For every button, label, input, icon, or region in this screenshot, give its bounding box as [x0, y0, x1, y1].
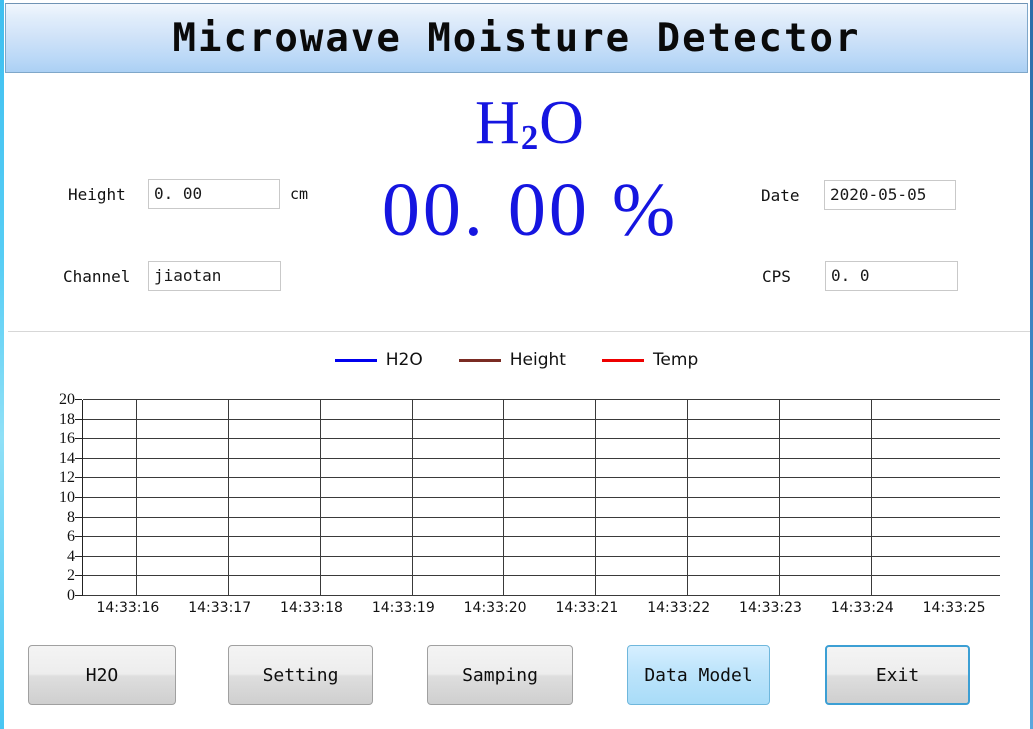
chart-y-tick-mark: [75, 399, 82, 400]
data-model-button[interactable]: Data Model: [627, 645, 770, 705]
button-bar: H2O Setting Samping Data Model Exit: [0, 645, 1033, 707]
height-unit-label: cm: [290, 185, 308, 203]
date-label: Date: [761, 186, 805, 205]
legend-label: Height: [510, 350, 566, 370]
date-input[interactable]: [824, 180, 956, 210]
chart-y-tick-mark: [75, 458, 82, 459]
chart-gridline-vertical: [503, 400, 504, 595]
chart-legend: H2O Height Temp: [0, 350, 1033, 370]
panel-divider: [8, 331, 1030, 332]
h2o-formula-subscript: 2: [521, 118, 539, 157]
chart-gridline-horizontal: [83, 438, 1000, 439]
setting-button[interactable]: Setting: [228, 645, 373, 705]
chart-x-axis: 14:33:1614:33:1714:33:1814:33:1914:33:20…: [82, 600, 1000, 622]
chart-y-tick-mark: [75, 517, 82, 518]
exit-button[interactable]: Exit: [825, 645, 970, 705]
h2o-formula-prefix: H: [475, 89, 521, 157]
chart-x-tick-label: 14:33:23: [739, 600, 802, 616]
chart-gridline-vertical: [871, 400, 872, 595]
chart-y-tick-mark: [75, 477, 82, 478]
moisture-value: 00. 00 %: [340, 167, 720, 253]
samping-button[interactable]: Samping: [427, 645, 573, 705]
chart-gridline-vertical: [412, 400, 413, 595]
height-input[interactable]: [148, 179, 280, 209]
chart-gridline-horizontal: [83, 536, 1000, 537]
chart-y-tick-label: 10: [41, 489, 75, 507]
chart-gridline-horizontal: [83, 458, 1000, 459]
chart-y-tick-label: 6: [41, 528, 75, 546]
app-title: Microwave Moisture Detector: [173, 16, 861, 61]
legend-item: H2O: [335, 350, 423, 370]
chart-y-tick-label: 8: [41, 509, 75, 527]
cps-input[interactable]: [825, 261, 958, 291]
channel-input[interactable]: [148, 261, 281, 291]
chart-gridline-vertical: [136, 400, 137, 595]
date-field-row: Date: [761, 180, 956, 210]
height-field-row: Height cm: [68, 179, 308, 209]
chart-gridline-horizontal: [83, 556, 1000, 557]
chart-gridline-horizontal: [83, 477, 1000, 478]
chart-gridline-vertical: [320, 400, 321, 595]
legend-line-icon: [335, 359, 377, 362]
chart-y-tick-mark: [75, 536, 82, 537]
chart-y-tick-label: 18: [41, 411, 75, 429]
chart-gridline-horizontal: [83, 595, 1000, 596]
chart-y-tick-label: 4: [41, 548, 75, 566]
chart-y-tick-label: 16: [41, 430, 75, 448]
chart-x-tick-label: 14:33:24: [831, 600, 894, 616]
application-window: Microwave Moisture Detector Height cm Ch…: [0, 0, 1033, 729]
h2o-formula-suffix: O: [539, 89, 585, 157]
chart-x-tick-label: 14:33:16: [96, 600, 159, 616]
chart-gridline-vertical: [228, 400, 229, 595]
legend-item: Height: [459, 350, 566, 370]
chart-gridline-vertical: [595, 400, 596, 595]
chart-y-tick-mark: [75, 556, 82, 557]
chart-y-tick-mark: [75, 595, 82, 596]
chart-y-tick-mark: [75, 575, 82, 576]
chart-y-tick-label: 0: [41, 587, 75, 605]
chart-y-tick-mark: [75, 419, 82, 420]
chart-gridline-horizontal: [83, 399, 1000, 400]
legend-label: Temp: [653, 350, 698, 370]
chart-y-tick-label: 2: [41, 567, 75, 585]
chart-y-tick-label: 20: [41, 391, 75, 409]
chart-x-tick-label: 14:33:19: [372, 600, 435, 616]
chart-x-tick-label: 14:33:25: [923, 600, 986, 616]
channel-label: Channel: [63, 267, 140, 286]
chart-gridline-horizontal: [83, 575, 1000, 576]
chart-gridline-horizontal: [83, 497, 1000, 498]
legend-item: Temp: [602, 350, 698, 370]
chart-gridline-vertical: [779, 400, 780, 595]
h2o-button[interactable]: H2O: [28, 645, 176, 705]
trend-chart: 02468101214161820 14:33:1614:33:1714:33:…: [0, 390, 1033, 635]
chart-x-tick-label: 14:33:21: [555, 600, 618, 616]
cps-field-row: CPS: [762, 261, 958, 291]
chart-gridline-horizontal: [83, 419, 1000, 420]
chart-x-tick-label: 14:33:17: [188, 600, 251, 616]
chart-y-axis: 02468101214161820: [34, 400, 75, 596]
chart-plot-area: [82, 400, 1000, 596]
legend-line-icon: [602, 359, 644, 362]
chart-gridline-vertical: [687, 400, 688, 595]
chart-y-tick-label: 12: [41, 469, 75, 487]
chart-x-tick-label: 14:33:20: [464, 600, 527, 616]
legend-line-icon: [459, 359, 501, 362]
height-label: Height: [68, 185, 140, 204]
chart-y-tick-label: 14: [41, 450, 75, 468]
chart-x-tick-label: 14:33:22: [647, 600, 710, 616]
h2o-formula-label: H2O: [340, 88, 720, 167]
chart-gridline-horizontal: [83, 517, 1000, 518]
moisture-readout: H2O 00. 00 %: [340, 88, 720, 253]
chart-y-tick-mark: [75, 497, 82, 498]
chart-x-tick-label: 14:33:18: [280, 600, 343, 616]
cps-label: CPS: [762, 267, 805, 286]
legend-label: H2O: [386, 350, 423, 370]
channel-field-row: Channel: [63, 261, 281, 291]
chart-y-tick-mark: [75, 438, 82, 439]
title-bar: Microwave Moisture Detector: [5, 3, 1028, 73]
